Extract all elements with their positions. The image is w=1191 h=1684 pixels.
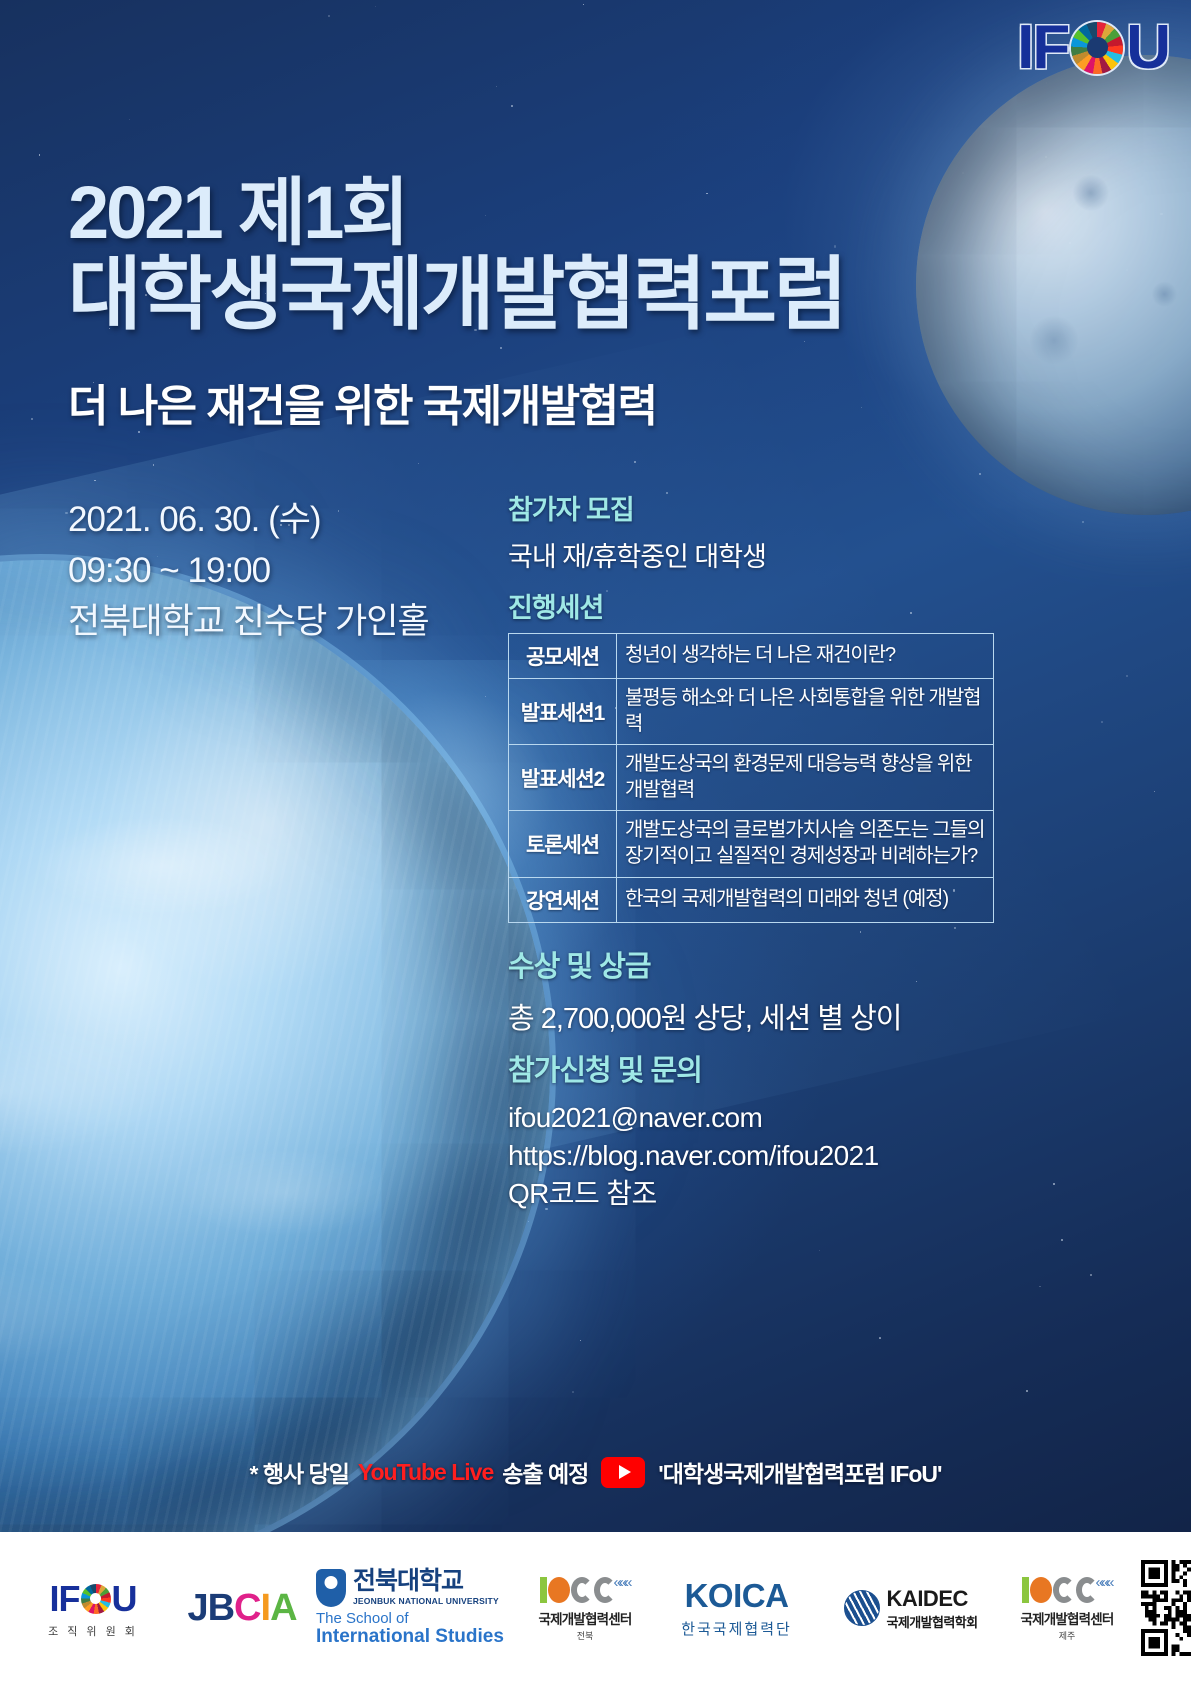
- star-decoration: [39, 154, 40, 155]
- info-column: 참가자 모집 국내 재/휴학중인 대학생 진행세션 공모세션청년이 생각하는 더…: [508, 488, 1008, 1213]
- star-decoration: [879, 1337, 881, 1339]
- idcc-arc1-icon: [571, 1577, 593, 1603]
- star-decoration: [328, 15, 330, 17]
- kaidec-globe-icon: [844, 1590, 880, 1626]
- star-decoration: [485, 696, 486, 697]
- moon-graphic: [916, 55, 1191, 515]
- youtube-middle-text: 송출 예정: [502, 1455, 588, 1489]
- star-decoration: [418, 463, 420, 465]
- session-desc-cell: 개발도상국의 환경문제 대응능력 향상을 위한 개발협력: [617, 745, 994, 811]
- youtube-channel-name: '대학생국제개발협력포럼 IFoU': [658, 1455, 941, 1489]
- ifou-logo-header: IF U: [1017, 12, 1169, 83]
- qr-code-block[interactable]: [1136, 1560, 1191, 1656]
- idcc-jj-region: 제주: [1059, 1629, 1076, 1642]
- session-name-cell: 발표세션2: [509, 745, 617, 811]
- idcc-wheat-icon-jeju: «««: [1095, 1574, 1111, 1591]
- star-decoration: [583, 4, 584, 5]
- star-decoration: [1053, 1183, 1055, 1185]
- jbnu-crest-icon: [316, 1569, 346, 1607]
- contact-label: 참가신청 및 문의: [508, 1047, 1008, 1089]
- star-decoration: [634, 461, 636, 463]
- star-decoration: [861, 407, 862, 408]
- star-decoration: [1126, 675, 1128, 677]
- ifou-logo-text-right: U: [1126, 12, 1169, 83]
- sdg-color-wheel-icon-small: [81, 1584, 111, 1614]
- session-name-cell: 발표세션1: [509, 679, 617, 745]
- idcc-dot-icon-jeju: [1030, 1577, 1052, 1603]
- star-decoration: [804, 341, 805, 342]
- star-decoration: [129, 119, 130, 120]
- event-time: 09:30 ~ 19:00: [68, 546, 429, 597]
- youtube-play-icon[interactable]: [601, 1457, 645, 1488]
- idcc-jb-name: 국제개발협력센터: [539, 1608, 632, 1628]
- jbcia-a: A: [270, 1587, 296, 1630]
- ifou-small-if: IF: [50, 1578, 80, 1620]
- qr-code-icon[interactable]: [1141, 1560, 1191, 1656]
- jbnu-lockup: 전북대학교 JEONBUK NATIONAL UNIVERSITY: [316, 1569, 499, 1607]
- koica-wordmark: KOICA: [685, 1577, 789, 1615]
- event-details-block: 2021. 06. 30. (수) 09:30 ~ 19:00 전북대학교 진수…: [68, 495, 429, 647]
- sponsor-logo-koica: KOICA 한국국제협력단: [654, 1577, 819, 1639]
- star-decoration: [572, 1391, 574, 1393]
- earth-graphic: [0, 560, 550, 1580]
- idcc-mark-icon: «««: [540, 1574, 629, 1603]
- headline-line-2: 대학생국제개발협력포럼: [68, 254, 948, 336]
- sponsor-logo-bar: IFoU IF U 조 직 위 원 회 JBCIA 전북대학교 JEONBUK …: [0, 1532, 1191, 1684]
- star-decoration: [819, 1250, 820, 1251]
- idcc-bar-icon-jeju: [1022, 1577, 1029, 1603]
- star-decoration: [1039, 1286, 1041, 1288]
- ifou-committee-label: 조 직 위 원 회: [48, 1623, 138, 1639]
- ifou-small-u: U: [112, 1578, 137, 1620]
- table-row: 발표세션2개발도상국의 환경문제 대응능력 향상을 위한 개발협력: [509, 745, 994, 811]
- youtube-live-banner: * 행사 당일 YouTube Live 송출 예정 '대학생국제개발협력포럼 …: [0, 1455, 1191, 1489]
- jbnu-name-ko: 전북대학교: [353, 1569, 499, 1594]
- table-row: 토론세션개발도상국의 글로벌가치사슬 의존도는 그들의 장기적이고 실질적인 경…: [509, 811, 994, 877]
- koica-name-ko: 한국국제협력단: [681, 1618, 792, 1639]
- idcc-arc1-icon-jeju: [1053, 1577, 1075, 1603]
- session-desc-cell: 불평등 해소와 더 나은 사회통합을 위한 개발협력: [617, 679, 994, 745]
- star-decoration: [580, 1340, 581, 1341]
- sponsor-logo-kaidec: KAIDEC 국제개발협력학회: [823, 1586, 998, 1631]
- idcc-jb-region: 전북: [577, 1629, 594, 1642]
- kaidec-wordmark: KAIDEC: [887, 1586, 978, 1612]
- headline-line-1: 2021 제1회: [68, 175, 948, 250]
- jbnu-school-line2: International Studies: [316, 1626, 504, 1647]
- session-desc-cell: 한국의 국제개발협력의 미래와 청년 (예정): [617, 877, 994, 922]
- contact-email[interactable]: ifou2021@naver.com: [508, 1099, 1008, 1137]
- sdg-color-wheel-icon: [1071, 22, 1123, 74]
- youtube-highlight-text: YouTube Live: [358, 1459, 493, 1486]
- jbnu-name-en: JEONBUK NATIONAL UNIVERSITY: [353, 1596, 499, 1606]
- ifou-logo-small: IFoU IF U: [50, 1578, 137, 1620]
- awards-value: 총 2,700,000원 상당, 세션 별 상이: [508, 995, 1008, 1037]
- poster-canvas: IF U 2021 제1회 대학생국제개발협력포럼 더 나은 재건을 위한 국제…: [0, 0, 1191, 1684]
- sponsor-logo-ifou: IFoU IF U 조 직 위 원 회: [18, 1578, 168, 1639]
- jbcia-jb: JB: [187, 1587, 234, 1630]
- star-decoration: [94, 480, 95, 481]
- kaidec-name-ko: 국제개발협력학회: [887, 1612, 978, 1631]
- star-decoration: [979, 473, 981, 475]
- kaidec-lockup: KAIDEC 국제개발협력학회: [844, 1586, 978, 1631]
- session-name-cell: 공모세션: [509, 634, 617, 679]
- sessions-table: 공모세션청년이 생각하는 더 나은 재건이란?발표세션1불평등 해소와 더 나은…: [508, 633, 994, 923]
- star-decoration: [1090, 1274, 1092, 1276]
- event-venue: 전북대학교 진수당 가인홀: [68, 597, 429, 648]
- youtube-prefix-text: * 행사 당일: [250, 1455, 349, 1489]
- earth-atmosphere-glow: [0, 554, 556, 1586]
- sponsor-logo-idcc-jeju: ««« 국제개발협력센터 제주: [1002, 1574, 1132, 1642]
- star-decoration: [1101, 721, 1103, 723]
- table-row: 강연세션한국의 국제개발협력의 미래와 청년 (예정): [509, 877, 994, 922]
- star-decoration: [1026, 1390, 1028, 1392]
- recruit-label: 참가자 모집: [508, 488, 1008, 527]
- star-decoration: [511, 105, 513, 107]
- jbcia-i: I: [261, 1587, 271, 1630]
- session-desc-cell: 청년이 생각하는 더 나은 재건이란?: [617, 634, 994, 679]
- headline-block: 2021 제1회 대학생국제개발협력포럼: [68, 175, 948, 336]
- idcc-jj-name: 국제개발협력센터: [1021, 1608, 1114, 1628]
- sponsor-logo-jbcia: JBCIA: [172, 1587, 312, 1630]
- idcc-wheat-icon: «««: [613, 1574, 629, 1591]
- sponsor-logo-idcc-jeonbuk: ««« 국제개발협력센터 전북: [520, 1574, 650, 1642]
- idcc-mark-icon-jeju: «««: [1022, 1574, 1111, 1603]
- star-decoration: [500, 347, 502, 349]
- event-date: 2021. 06. 30. (수): [68, 495, 429, 546]
- moon-texture: [916, 55, 1191, 515]
- sessions-label: 진행세션: [508, 586, 1008, 625]
- star-decoration: [153, 464, 155, 466]
- awards-block: 수상 및 상금 총 2,700,000원 상당, 세션 별 상이 참가신청 및 …: [508, 943, 1008, 1213]
- jbcia-c: C: [234, 1587, 260, 1630]
- jbnu-school-line1: The School of: [316, 1611, 504, 1627]
- star-decoration: [496, 86, 497, 87]
- star-decoration: [375, 6, 376, 7]
- session-name-cell: 토론세션: [509, 811, 617, 877]
- session-desc-cell: 개발도상국의 글로벌가치사슬 의존도는 그들의 장기적이고 실질적인 경제성장과…: [617, 811, 994, 877]
- table-row: 공모세션청년이 생각하는 더 나은 재건이란?: [509, 634, 994, 679]
- headline-subtitle: 더 나은 재건을 위한 국제개발협력: [68, 370, 657, 434]
- jbnu-school-block: The School of International Studies: [316, 1611, 504, 1648]
- sponsor-logo-jbnu: 전북대학교 JEONBUK NATIONAL UNIVERSITY The Sc…: [316, 1569, 516, 1648]
- idcc-bar-icon: [540, 1577, 547, 1603]
- contact-qr-note: QR코드 참조: [508, 1175, 1008, 1213]
- recruit-value: 국내 재/휴학중인 대학생: [508, 535, 1008, 574]
- star-decoration: [1154, 791, 1155, 792]
- contact-blog-url[interactable]: https://blog.naver.com/ifou2021: [508, 1137, 1008, 1175]
- star-decoration: [1082, 521, 1084, 523]
- session-name-cell: 강연세션: [509, 877, 617, 922]
- table-row: 발표세션1불평등 해소와 더 나은 사회통합을 위한 개발협력: [509, 679, 994, 745]
- awards-label: 수상 및 상금: [508, 943, 1008, 985]
- jbcia-wordmark: JBCIA: [187, 1587, 296, 1630]
- star-decoration: [1061, 1239, 1063, 1241]
- ifou-logo-text-left: IF: [1017, 12, 1068, 83]
- idcc-dot-icon: [548, 1577, 570, 1603]
- star-decoration: [31, 418, 33, 420]
